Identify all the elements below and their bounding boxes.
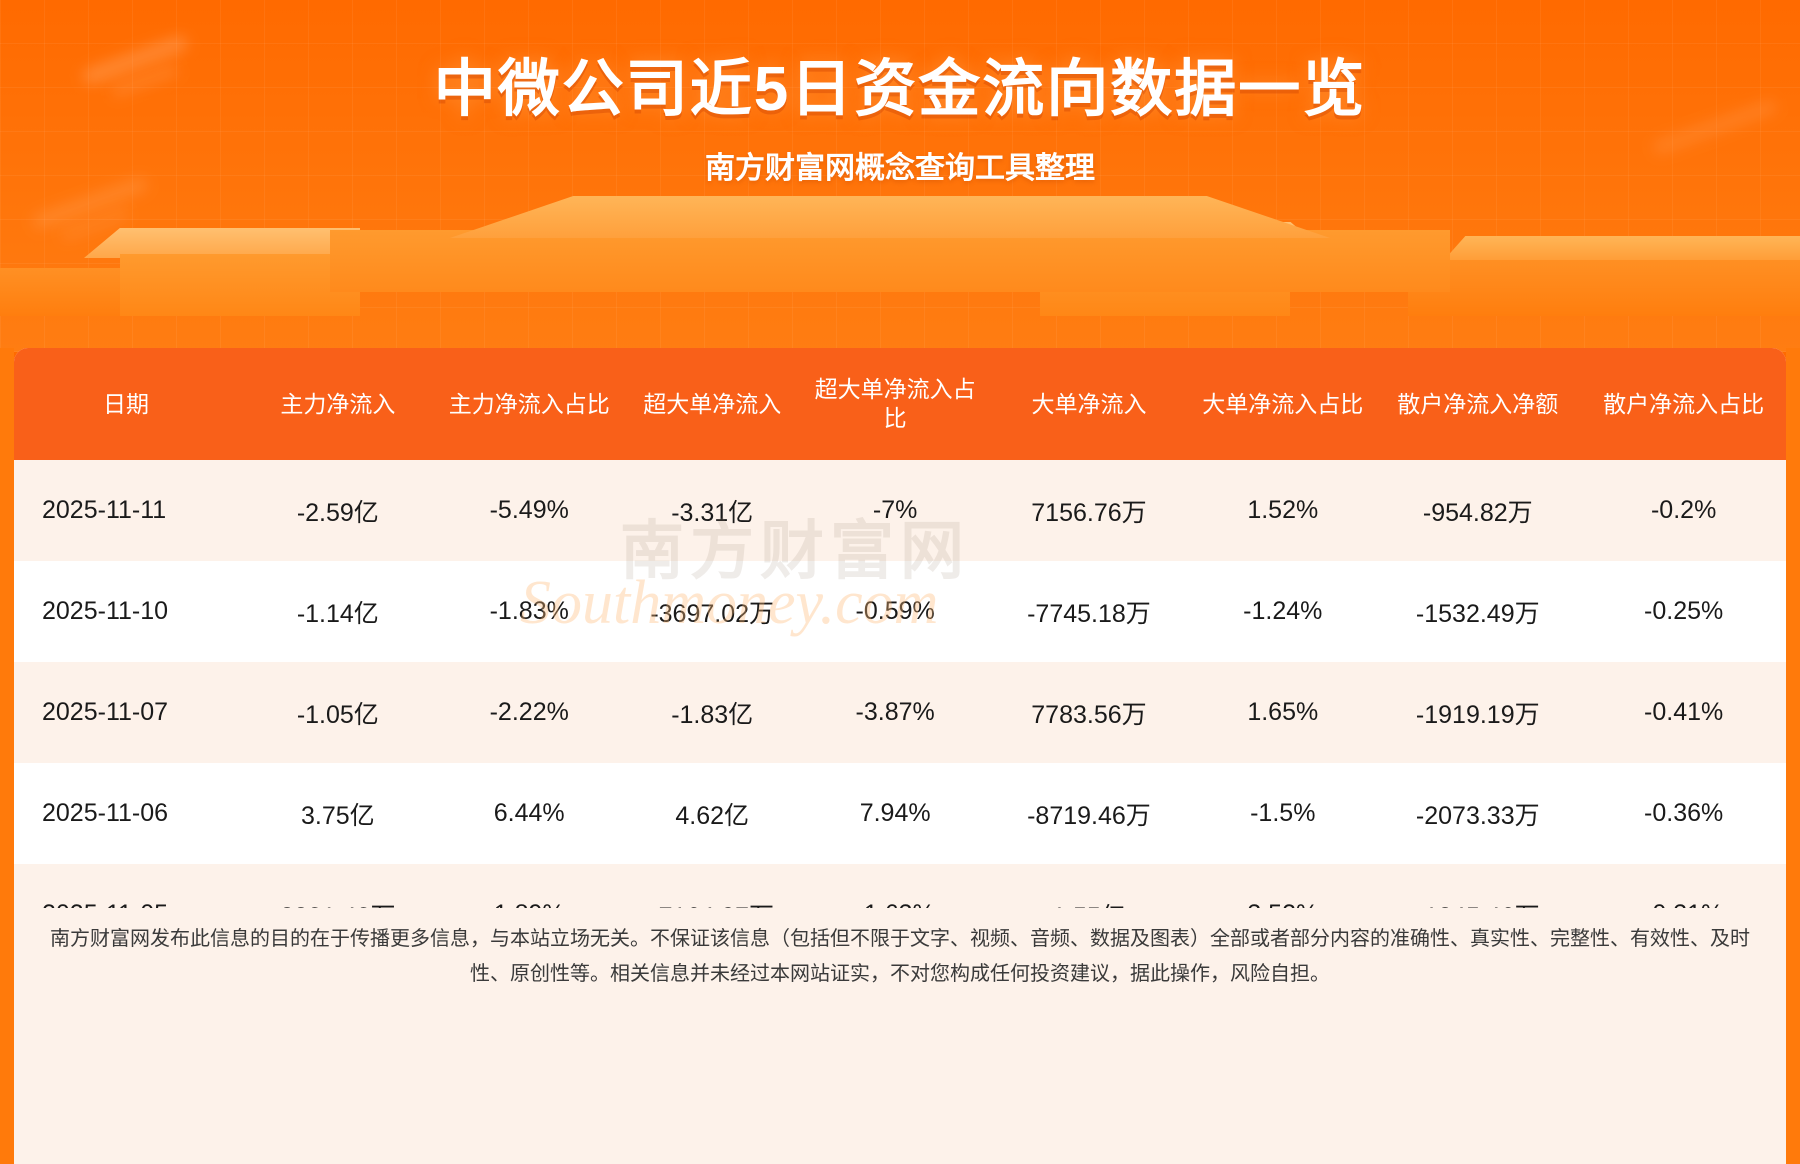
cell-main-pct: -1.83%	[438, 561, 621, 662]
cell-retail-pct: -0.36%	[1581, 763, 1786, 864]
cell-lg-pct: -1.5%	[1191, 763, 1374, 864]
page-subtitle: 南方财富网概念查询工具整理	[0, 143, 1800, 187]
podium-block-center	[330, 196, 1450, 292]
column-header-main-net: 主力净流入	[238, 348, 438, 460]
cell-retail-net: -2073.33万	[1374, 763, 1581, 864]
column-header-lg-pct: 大单净流入占比	[1191, 348, 1374, 460]
cell-main-net: 3.75亿	[238, 763, 438, 864]
cell-retail-pct: -0.41%	[1581, 662, 1786, 763]
cell-xl-pct: -3.87%	[804, 662, 987, 763]
cell-date: 2025-11-06	[14, 763, 238, 864]
podium-block	[1444, 236, 1800, 260]
column-header-date: 日期	[14, 348, 238, 460]
column-header-lg-net: 大单净流入	[987, 348, 1192, 460]
cell-lg-net: 7156.76万	[987, 460, 1192, 561]
cell-lg-pct: -1.24%	[1191, 561, 1374, 662]
column-header-xl-net: 超大单净流入	[621, 348, 804, 460]
cell-xl-net: -1.83亿	[621, 662, 804, 763]
cell-main-net: -1.14亿	[238, 561, 438, 662]
cell-xl-pct: -0.59%	[804, 561, 987, 662]
column-header-retail-pct: 散户净流入占比	[1581, 348, 1786, 460]
disclaimer-text: 南方财富网发布此信息的目的在于传播更多信息，与本站立场无关。不保证该信息（包括但…	[30, 922, 1770, 992]
cell-main-pct: 6.44%	[438, 763, 621, 864]
cell-xl-pct: 7.94%	[804, 763, 987, 864]
left-rail	[0, 348, 14, 1164]
page-title: 中微公司近5日资金流向数据一览	[0, 38, 1800, 128]
hero-banner: 中微公司近5日资金流向数据一览 南方财富网概念查询工具整理	[0, 0, 1800, 352]
cell-lg-pct: 1.52%	[1191, 460, 1374, 561]
cell-main-net: -1.05亿	[238, 662, 438, 763]
table-row: 2025-11-07 -1.05亿 -2.22% -1.83亿 -3.87% 7…	[14, 662, 1786, 763]
table-header-row: 日期 主力净流入 主力净流入占比 超大单净流入 超大单净流入占比 大单净流入 大…	[14, 348, 1786, 460]
podium-block-left	[120, 254, 360, 316]
cell-retail-pct: -0.2%	[1581, 460, 1786, 561]
cell-xl-pct: -7%	[804, 460, 987, 561]
cell-retail-pct: -0.25%	[1581, 561, 1786, 662]
cell-date: 2025-11-10	[14, 561, 238, 662]
cell-xl-net: -3697.02万	[621, 561, 804, 662]
cell-xl-net: 4.62亿	[621, 763, 804, 864]
fund-flow-table-card: 日期 主力净流入 主力净流入占比 超大单净流入 超大单净流入占比 大单净流入 大…	[14, 348, 1786, 965]
cell-main-pct: -2.22%	[438, 662, 621, 763]
footer: 南方财富网发布此信息的目的在于传播更多信息，与本站立场无关。不保证该信息（包括但…	[14, 908, 1786, 1164]
podium-block	[1408, 258, 1800, 316]
column-header-xl-pct: 超大单净流入占比	[804, 348, 987, 460]
cell-retail-net: -954.82万	[1374, 460, 1581, 561]
cell-date: 2025-11-11	[14, 460, 238, 561]
cell-main-pct: -5.49%	[438, 460, 621, 561]
column-header-retail-net: 散户净流入净额	[1374, 348, 1581, 460]
column-header-main-pct: 主力净流入占比	[438, 348, 621, 460]
podium-block	[0, 268, 126, 316]
cell-lg-net: -7745.18万	[987, 561, 1192, 662]
cell-main-net: -2.59亿	[238, 460, 438, 561]
table-row: 2025-11-06 3.75亿 6.44% 4.62亿 7.94% -8719…	[14, 763, 1786, 864]
cell-xl-net: -3.31亿	[621, 460, 804, 561]
cell-date: 2025-11-07	[14, 662, 238, 763]
cell-lg-net: 7783.56万	[987, 662, 1192, 763]
cell-retail-net: -1919.19万	[1374, 662, 1581, 763]
table-row: 2025-11-10 -1.14亿 -1.83% -3697.02万 -0.59…	[14, 561, 1786, 662]
right-rail	[1786, 348, 1800, 1164]
cell-lg-pct: 1.65%	[1191, 662, 1374, 763]
cell-retail-net: -1532.49万	[1374, 561, 1581, 662]
table-row: 2025-11-11 -2.59亿 -5.49% -3.31亿 -7% 7156…	[14, 460, 1786, 561]
cell-lg-net: -8719.46万	[987, 763, 1192, 864]
fund-flow-table: 日期 主力净流入 主力净流入占比 超大单净流入 超大单净流入占比 大单净流入 大…	[14, 348, 1786, 965]
